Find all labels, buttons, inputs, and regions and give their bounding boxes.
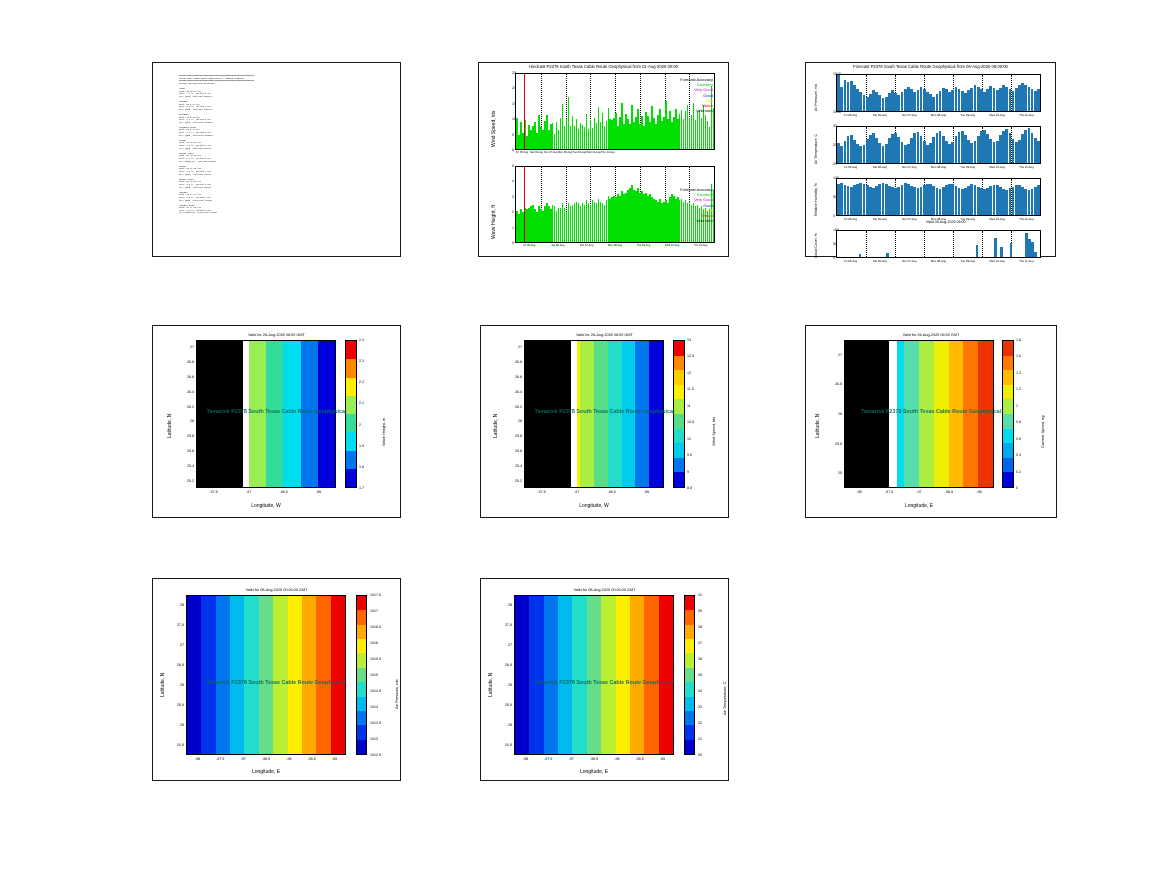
colorbar-tick-label: 1014: [370, 705, 378, 709]
airtemp-map-watermark: Tamarisk P2378 South Texas Cable Route G…: [481, 680, 728, 686]
x-tick-label: -95.5: [308, 757, 316, 761]
day-label: Tue 09-Aug: [961, 259, 976, 263]
day-label: Fri 05-Aug: [844, 113, 857, 117]
day-label: Wed 10-Aug: [989, 165, 1005, 169]
day-label: Wed 10-Aug: [665, 244, 679, 247]
y-tick-label: 25.5: [177, 703, 184, 707]
issue-time-marker: [524, 74, 525, 149]
wave-map-xlabel: Longitude, W: [196, 503, 336, 509]
wave-height-ylabel: Wave Height, ft: [491, 205, 497, 239]
met-title: Forecast P2378 South Texas Cable Route G…: [806, 64, 1055, 69]
bar: [1037, 141, 1040, 163]
day-label: Sat 06-Aug: [873, 165, 887, 169]
x-tick-label: -96: [286, 757, 291, 761]
bar-series: [837, 179, 1040, 215]
x-tick-label: -96.5: [607, 490, 615, 494]
colorbar-tick-label: 1016.5: [370, 625, 381, 629]
pressure-ylabel: Air Pressure, mb: [814, 84, 818, 111]
colorbar-segment: [357, 625, 366, 639]
colorbar-segment: [674, 341, 684, 356]
wind-map-xlabel: Longitude, W: [524, 503, 664, 509]
x-tick-label: -98: [523, 757, 528, 761]
colorbar-segment: [346, 451, 356, 469]
contour-band: [572, 596, 586, 754]
current-map-title: Valid for 26-Aug-2025 06:00 GMT: [806, 333, 1056, 337]
x-tick-label: -96: [316, 490, 321, 494]
colorbar-segment: [1003, 370, 1013, 385]
current-map-cblabel: Current Speed, kg: [1040, 416, 1045, 448]
x-tick-label: -98: [195, 757, 200, 761]
colorbar-tick-label: 0.6: [1016, 437, 1021, 441]
colorbar-segment: [357, 725, 366, 739]
colorbar-tick-label: 33: [698, 705, 702, 709]
y-tick-label: 28: [180, 603, 184, 607]
day-label: Mon 08-Aug: [931, 113, 946, 117]
colorbar-segment: [357, 639, 366, 653]
contour-band: [288, 596, 302, 754]
bar: [1037, 185, 1040, 215]
legend-item: Unknown: [629, 108, 713, 113]
contour-band: [529, 596, 543, 754]
x-tick-label: -97.5: [537, 490, 545, 494]
colorbar-segment: [1003, 429, 1013, 444]
day-label: Mon 08-Aug: [558, 151, 572, 154]
humidity-ylabel: Relative Humidity, %: [814, 183, 818, 216]
colorbar-tick-label: 0.2: [1016, 470, 1021, 474]
day-label: Wed 10-Aug: [989, 217, 1005, 221]
y-tick-label: 25: [508, 723, 512, 727]
day-label: Mon 08-Aug: [931, 165, 946, 169]
x-tick-label: -97: [246, 490, 251, 494]
colorbar-tick-label: 30: [698, 753, 702, 757]
bar: [1010, 243, 1013, 257]
day-label: Fri 05-Aug: [844, 217, 857, 221]
bar: [1037, 89, 1040, 111]
hindcast-title: Hindcast P2378 South Texas Cable Route G…: [479, 64, 728, 69]
y-tick-label: 27: [518, 345, 522, 349]
colorbar-tick-label: 38: [698, 625, 702, 629]
contour-band: [659, 596, 673, 754]
wind-map-cblabel: Wind Speed, kts: [711, 417, 716, 446]
cloud-ylabel: Cloud Cover, %: [814, 233, 818, 258]
humidity-axes: [836, 178, 1041, 216]
temperature-axes: [836, 126, 1041, 164]
colorbar-tick-label: 34: [698, 689, 702, 693]
wave-map-cblabel: Wave Height, m: [381, 418, 386, 446]
day-label: Tue 09-Aug: [637, 244, 650, 247]
colorbar-segment: [1003, 443, 1013, 458]
day-label: Fri 05-Aug: [844, 165, 857, 169]
colorbar-tick-label: 13: [687, 338, 691, 342]
colorbar-tick-label: 1.6: [1016, 354, 1021, 358]
x-tick-label: -97.5: [544, 757, 552, 761]
wind-map-ylabel: Latitude, N: [493, 414, 499, 438]
colorbar-tick-label: 32: [698, 721, 702, 725]
y-tick-label: 26: [518, 419, 522, 423]
colorbar-segment: [1003, 414, 1013, 429]
day-label: Sat 06-Aug: [873, 113, 887, 117]
contour-band: [331, 596, 345, 754]
bar: [859, 254, 862, 257]
current-speed-map-panel: Valid for 26-Aug-2025 06:00 GMT Current …: [805, 325, 1057, 518]
colorbar-tick-label: 1.9: [359, 444, 364, 448]
day-label: Tue 09-Aug: [573, 151, 586, 154]
colorbar-tick-label: 1.4: [1016, 371, 1021, 375]
day-label: Sun 07-Aug: [544, 151, 558, 154]
y-tick-label: 25: [838, 471, 842, 475]
current-map-ylabel: Latitude, N: [815, 414, 821, 438]
colorbar-segment: [685, 711, 694, 725]
contour-band: [515, 596, 529, 754]
y-tick-label: 26.4: [187, 390, 194, 394]
bar: [976, 245, 979, 257]
day-label: Thu 11-Aug: [1019, 259, 1033, 263]
colorbar-tick-label: 1.8: [359, 465, 364, 469]
colorbar-tick-label: 12.5: [687, 354, 694, 358]
x-tick-label: -96.5: [279, 490, 287, 494]
day-label: Thu 11-Aug: [1019, 217, 1033, 221]
airtemp-map-cblabel: Air Temperature, C: [722, 682, 727, 716]
x-tick-label: -96.5: [262, 757, 270, 761]
pressure-map-xlabel: Longitude, E: [186, 769, 346, 775]
colorbar-tick-label: 1016: [370, 641, 378, 645]
colorbar-tick-label: 1.2: [1016, 387, 1021, 391]
colorbar-segment: [357, 697, 366, 711]
colorbar-tick-label: 1015.5: [370, 657, 381, 661]
colorbar-segment: [346, 469, 356, 487]
colorbar-tick-label: 0.4: [1016, 453, 1021, 457]
colorbar-tick-label: 2.2: [359, 380, 364, 384]
met-annotation: Valid 05-Aug-2025 06:00: [926, 220, 966, 224]
colorbar-segment: [346, 432, 356, 450]
y-tick-label: 24.5: [505, 743, 512, 747]
wind-speed-map-panel: Valid for 26-Aug-2025 06:00 GMT Wind Spe…: [480, 325, 729, 518]
y-tick-label: 25.4: [187, 464, 194, 468]
y-tick-label: 25.6: [187, 449, 194, 453]
x-tick-label: -96: [644, 490, 649, 494]
wave-map-watermark: Tamarisk P2378 South Texas Cable Route G…: [153, 409, 400, 415]
y-tick-label: 27: [180, 643, 184, 647]
contour-band: [630, 596, 644, 754]
day-label: Sun 07-Aug: [902, 217, 917, 221]
forecast-accuracy-legend-wave: Forecast AccuracyExcellentVery GoodGoodF…: [629, 187, 713, 223]
colorbar-segment: [674, 385, 684, 400]
x-tick-label: -95: [332, 757, 337, 761]
day-label: Sat 06-Aug: [873, 217, 887, 221]
colorbar-segment: [685, 639, 694, 653]
colorbar-segment: [685, 596, 694, 610]
colorbar-segment: [1003, 356, 1013, 371]
x-tick-label: -97.5: [216, 757, 224, 761]
bar: [994, 238, 997, 257]
contour-band: [259, 596, 273, 754]
colorbar-segment: [674, 458, 684, 473]
wind-map-watermark: Tamarisk P2378 South Texas Cable Route G…: [481, 409, 728, 415]
air-pressure-map-panel: Valid for 08-Aug-2025 00:00:00 GMT Air P…: [152, 578, 401, 781]
y-tick-label: 25.8: [515, 434, 522, 438]
x-tick-label: -97: [241, 757, 246, 761]
day-label: Fri 05-Aug: [516, 151, 528, 154]
y-tick-label: 26.6: [187, 375, 194, 379]
x-tick-label: -98: [856, 490, 861, 494]
day-label: Sat 06-Aug: [551, 244, 564, 247]
contour-band: [616, 596, 630, 754]
y-tick-label: 26.5: [505, 663, 512, 667]
pressure-axes: [836, 74, 1041, 112]
forecast-accuracy-legend: Forecast AccuracyExcellentVery GoodGoodF…: [629, 77, 713, 113]
colorbar-tick-label: 1: [1016, 404, 1018, 408]
day-label: Wed 10-Aug: [989, 259, 1005, 263]
y-tick-label: 26.5: [177, 663, 184, 667]
y-tick-label: 26.8: [187, 360, 194, 364]
issue-time-marker: [524, 167, 525, 242]
y-tick-label: 28: [508, 603, 512, 607]
x-tick-label: -95.5: [636, 757, 644, 761]
current-map-xlabel: Longitude, E: [844, 503, 994, 509]
day-label: Thu 11-Aug: [1019, 113, 1033, 117]
y-tick-label: 25.2: [515, 479, 522, 483]
contour-band: [216, 596, 230, 754]
colorbar-tick-label: 39: [698, 609, 702, 613]
colorbar-segment: [357, 711, 366, 725]
colorbar-segment: [674, 414, 684, 429]
colorbar-tick-label: 1.7: [359, 486, 364, 490]
colorbar-tick-label: 2.4: [359, 338, 364, 342]
colorbar-tick-label: 11.5: [687, 387, 694, 391]
x-tick-label: -96.5: [590, 757, 598, 761]
contour-band: [644, 596, 658, 754]
colorbar-segment: [674, 370, 684, 385]
colorbar-tick-label: 2.1: [359, 401, 364, 405]
colorbar-segment: [346, 359, 356, 377]
contour-band: [544, 596, 558, 754]
airtemp-map-xlabel: Longitude, E: [514, 769, 674, 775]
y-tick-label: 27.5: [505, 623, 512, 627]
airtemp-map-colorbar: [684, 595, 695, 755]
colorbar-tick-label: 9.5: [687, 453, 692, 457]
y-tick-label: 24.5: [177, 743, 184, 747]
y-tick-label: 26.2: [187, 405, 194, 409]
y-tick-label: 26.8: [515, 360, 522, 364]
contour-band: [601, 596, 615, 754]
colorbar-segment: [685, 653, 694, 667]
colorbar-segment: [1003, 472, 1013, 487]
y-tick-label: 26.2: [515, 405, 522, 409]
colorbar-tick-label: 0.8: [1016, 420, 1021, 424]
day-label: Tue 09-Aug: [961, 165, 976, 169]
colorbar-tick-label: 35: [698, 673, 702, 677]
colorbar-tick-label: 1015: [370, 673, 378, 677]
colorbar-tick-label: 2: [359, 423, 361, 427]
x-tick-label: -97.5: [885, 490, 893, 494]
day-label: Thu 11-Aug: [1019, 165, 1033, 169]
x-tick-label: -97: [574, 490, 579, 494]
pressure-map-plot: [186, 595, 346, 755]
x-tick-label: -97: [569, 757, 574, 761]
pressure-map-title: Valid for 08-Aug-2025 00:00:00 GMT: [153, 588, 400, 592]
colorbar-tick-label: 0: [1016, 486, 1018, 490]
y-tick-label: 26: [190, 419, 194, 423]
bar: [1034, 252, 1037, 257]
colorbar-segment: [674, 443, 684, 458]
day-label: Sun 07-Aug: [902, 165, 917, 169]
legend-item: Unknown: [629, 218, 713, 223]
contour-band: [302, 596, 316, 754]
colorbar-tick-label: 37: [698, 641, 702, 645]
x-tick-label: -96.5: [945, 490, 953, 494]
colorbar-tick-label: 1013: [370, 737, 378, 741]
wave-height-map-panel: Valid for 26-Aug-2025 06:00 GMT Wave Hei…: [152, 325, 401, 518]
colorbar-tick-label: 31: [698, 737, 702, 741]
y-tick-label: 25.5: [835, 442, 842, 446]
y-tick-label: 27: [508, 643, 512, 647]
wave-map-ylabel: Latitude, N: [167, 414, 173, 438]
day-label: Mon 08-Aug: [608, 244, 622, 247]
contour-band: [587, 596, 601, 754]
colorbar-segment: [685, 725, 694, 739]
colorbar-tick-label: 1013.5: [370, 721, 381, 725]
colorbar-segment: [674, 429, 684, 444]
bar-series: [837, 127, 1040, 163]
y-tick-label: 27: [838, 353, 842, 357]
y-tick-label: 27: [190, 345, 194, 349]
colorbar-segment: [674, 472, 684, 487]
contour-band: [187, 596, 201, 754]
day-label: Mon 08-Aug: [931, 259, 946, 263]
colorbar-tick-label: 8.5: [687, 486, 692, 490]
y-tick-label: 25.5: [505, 703, 512, 707]
x-tick-label: -97.5: [209, 490, 217, 494]
day-label: Sat 06-Aug: [530, 151, 543, 154]
y-tick-label: 26.5: [835, 382, 842, 386]
day-label: Sat 06-Aug: [873, 259, 887, 263]
day-label: Wed 10-Aug: [586, 151, 600, 154]
colorbar-tick-label: 1014.5: [370, 689, 381, 693]
contour-band: [316, 596, 330, 754]
colorbar-tick-label: 36: [698, 657, 702, 661]
day-label: Fri 05-Aug: [844, 259, 857, 263]
colorbar-tick-label: 11: [687, 404, 691, 408]
colorbar-tick-label: 10.5: [687, 420, 694, 424]
meteorology-forecast-panel: Forecast P2378 South Texas Cable Route G…: [805, 62, 1056, 257]
colorbar-segment: [1003, 458, 1013, 473]
colorbar-tick-label: 1017.5: [370, 593, 381, 597]
day-label: Tue 09-Aug: [961, 113, 976, 117]
colorbar-segment: [685, 740, 694, 754]
colorbar-tick-label: 1012.5: [370, 753, 381, 757]
colorbar-segment: [1003, 341, 1013, 356]
day-label: Wed 10-Aug: [989, 113, 1005, 117]
contour-band: [273, 596, 287, 754]
pressure-map-colorbar: [356, 595, 367, 755]
x-tick-label: -96: [614, 757, 619, 761]
y-tick-label: 26.6: [515, 375, 522, 379]
cloud-axes: [836, 230, 1041, 258]
colorbar-segment: [685, 610, 694, 624]
colorbar-segment: [357, 740, 366, 754]
text-report-panel: ========================================…: [152, 62, 401, 257]
colorbar-tick-label: 2.3: [359, 359, 364, 363]
colorbar-tick-label: 10: [687, 437, 691, 441]
contour-band: [558, 596, 572, 754]
day-label: Thu 11-Aug: [601, 151, 614, 154]
contour-band: [244, 596, 258, 754]
day-label: Fri 05-Aug: [523, 244, 535, 247]
wave-map-title: Valid for 26-Aug-2025 06:00 GMT: [153, 333, 400, 337]
colorbar-segment: [685, 625, 694, 639]
bar: [713, 108, 715, 149]
y-tick-label: 26.4: [515, 390, 522, 394]
colorbar-segment: [357, 610, 366, 624]
day-label: Sun 07-Aug: [902, 259, 917, 263]
day-label: Sun 07-Aug: [902, 113, 917, 117]
bar: [886, 253, 889, 257]
forecast-text-body: ========================================…: [179, 75, 254, 215]
colorbar-segment: [346, 414, 356, 432]
x-tick-label: -95: [660, 757, 665, 761]
wind-wave-hindcast-panel: Hindcast P2378 South Texas Cable Route G…: [478, 62, 729, 257]
colorbar-tick-label: 12: [687, 371, 691, 375]
current-map-watermark: Tamarisk P2378 South Texas Cable Route G…: [806, 409, 1056, 415]
y-tick-label: 25.2: [187, 479, 194, 483]
y-tick-label: 25.8: [187, 434, 194, 438]
y-tick-label: 25.6: [515, 449, 522, 453]
colorbar-tick-label: 1.8: [1016, 338, 1021, 342]
y-tick-label: 27.5: [177, 623, 184, 627]
colorbar-segment: [685, 697, 694, 711]
pressure-map-watermark: Tamarisk P2378 South Texas Cable Route G…: [153, 680, 400, 686]
contour-band: [201, 596, 215, 754]
y-tick-label: 25: [180, 723, 184, 727]
air-temperature-map-panel: Valid for 08-Aug-2025 00:00:00 GMT Air T…: [480, 578, 729, 781]
colorbar-segment: [1003, 385, 1013, 400]
bar-series: [837, 75, 1040, 111]
colorbar-segment: [357, 596, 366, 610]
colorbar-segment: [674, 356, 684, 371]
colorbar-segment: [346, 341, 356, 359]
day-label: Thu 11-Aug: [694, 244, 707, 247]
x-tick-label: -97: [916, 490, 921, 494]
bar: [1000, 247, 1003, 257]
y-tick-label: 25.4: [515, 464, 522, 468]
day-label: Sun 07-Aug: [580, 244, 594, 247]
colorbar-segment: [346, 378, 356, 396]
airtemp-map-plot: [514, 595, 674, 755]
bar-series: [837, 231, 1040, 257]
wind-map-title: Valid for 26-Aug-2025 06:00 GMT: [481, 333, 728, 337]
temperature-ylabel: Air Temperature, C: [814, 134, 818, 164]
colorbar-tick-label: 1017: [370, 609, 378, 613]
airtemp-map-title: Valid for 08-Aug-2025 00:00:00 GMT: [481, 588, 728, 592]
wind-speed-ylabel: Wind Speed, kts: [491, 111, 497, 147]
x-tick-label: -96: [976, 490, 981, 494]
contour-band: [230, 596, 244, 754]
colorbar-segment: [357, 653, 366, 667]
colorbar-tick-label: 41: [698, 593, 702, 597]
colorbar-tick-label: 9: [687, 470, 689, 474]
